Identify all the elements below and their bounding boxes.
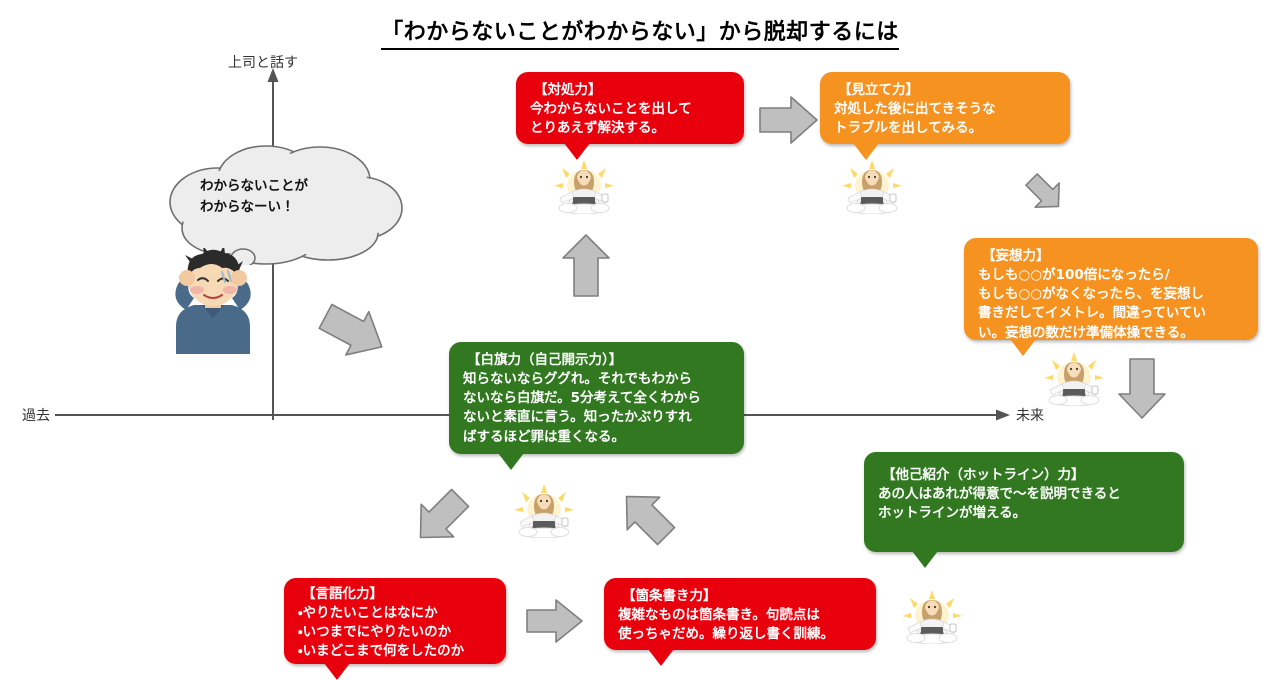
arrow-kajougaki-to-shirahata (614, 486, 680, 548)
arrow-mousou-to-takoshoukai (1114, 356, 1170, 422)
callout-kajougakiryoku-tail (648, 649, 674, 666)
arrow-mitate-to-mousou (1014, 162, 1076, 224)
callout-taishoryoku-body: 今わからないことを出して とりあえず解決する。 (530, 100, 730, 138)
callout-shirahataryoku[interactable]: 【白旗力（自己開示力）】 知らないならググれ。それでもわから ないなら白旗だ。5… (449, 342, 744, 454)
callout-mousouryoku-title: 【妄想力】 (978, 247, 1244, 266)
arrow-gengoka-to-kajougaki (524, 595, 586, 647)
callout-mitateryoku-body: 対処した後に出てきそうな トラブルを出してみる。 (834, 100, 1056, 138)
sage-icon-mousou (1040, 350, 1108, 406)
axis-label-x-right: 未来 (1016, 405, 1044, 425)
axis-label-y-top: 上司と話す (228, 52, 298, 72)
callout-takoshoukai-title: 【他己紹介（ホットライン）力】 (878, 466, 1170, 485)
arrow-shirahata-to-taisho (558, 232, 614, 300)
callout-mousouryoku-body: もしも○○が100倍になったら/ もしも○○がなくなったら、を妄想し 書きだして… (978, 266, 1244, 343)
callout-gengokaryoku[interactable]: 【言語化力】 ・やりたいことはなにか ・いつまでにやりたいのか ・いまどこまで何… (284, 578, 506, 664)
callout-kajougakiryoku[interactable]: 【箇条書き力】 複雑なものは箇条書き。句読点は 使っちゃだめ。繰り返し書く訓練。 (604, 578, 876, 650)
callout-mousouryoku[interactable]: 【妄想力】 もしも○○が100倍になったら/ もしも○○がなくなったら、を妄想し… (964, 238, 1258, 340)
arrow-shirahata-to-gengoka (408, 486, 474, 548)
callout-gengokaryoku-tail (324, 663, 350, 680)
diagram-canvas: 「わからないことがわからない」から脱却するには 上司と話す 過去 未来 (0, 0, 1280, 670)
callout-takoshoukai[interactable]: 【他己紹介（ホットライン）力】 あの人はあれが得意で〜を説明できると ホットライ… (864, 452, 1184, 552)
sage-icon-takoshoukai (898, 588, 966, 644)
callout-mitateryoku[interactable]: 【見立て力】 対処した後に出てきそうな トラブルを出してみる。 (820, 72, 1070, 144)
arrow-taisho-to-mitate (757, 92, 821, 148)
axis-label-x-left: 過去 (22, 405, 50, 425)
callout-shirahataryoku-body: 知らないならググれ。それでもわから ないなら白旗だ。5分考えて全くわから ないと… (463, 370, 730, 447)
troubled-person-illustration (152, 248, 274, 354)
callout-shirahataryoku-title: 【白旗力（自己開示力）】 (463, 351, 730, 370)
callout-kajougakiryoku-body: 複雑なものは箇条書き。句読点は 使っちゃだめ。繰り返し書く訓練。 (618, 606, 862, 644)
sage-icon-mitate (838, 158, 906, 214)
callout-takoshoukai-tail (912, 551, 938, 568)
callout-mitateryoku-title: 【見立て力】 (834, 81, 1056, 100)
callout-kajougakiryoku-title: 【箇条書き力】 (618, 587, 862, 606)
callout-taishoryoku[interactable]: 【対処力】 今わからないことを出して とりあえず解決する。 (516, 72, 744, 144)
callout-taishoryoku-title: 【対処力】 (530, 81, 730, 100)
callout-gengokaryoku-title: 【言語化力】 (298, 585, 492, 604)
callout-gengokaryoku-body: ・やりたいことはなにか ・いつまでにやりたいのか ・いまどこまで何をしたのか (298, 604, 492, 661)
sage-icon-taisho (550, 158, 618, 214)
callout-mitateryoku-tail (853, 143, 879, 160)
arrow-bubble-to-shirahata (316, 300, 392, 362)
sage-icon-shirahata (510, 482, 578, 538)
callout-mousouryoku-tail (1010, 339, 1036, 356)
callout-shirahataryoku-tail (498, 453, 524, 470)
callout-taishoryoku-tail (564, 143, 590, 160)
thought-bubble-text: わからないことが わからなーい！ (200, 176, 308, 218)
callout-takoshoukai-body: あの人はあれが得意で〜を説明できると ホットラインが増える。 (878, 485, 1170, 523)
